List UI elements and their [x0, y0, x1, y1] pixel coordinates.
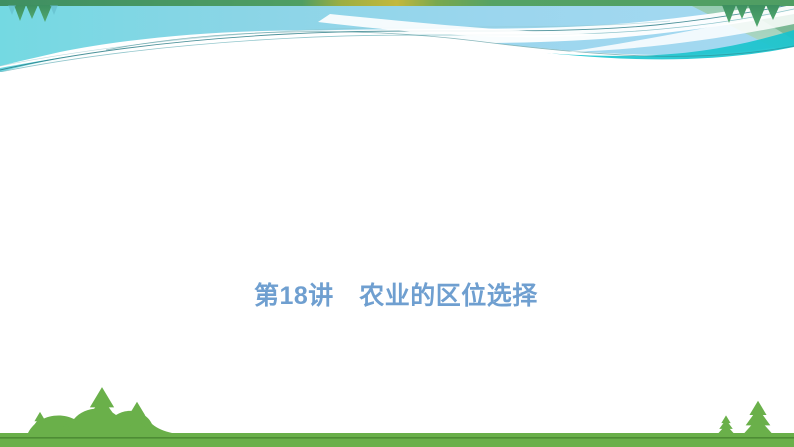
- footer-green-band-lower: [0, 442, 794, 447]
- slide-content-area: 第18讲 农业的区位选择: [0, 72, 794, 377]
- footer-band: [0, 377, 794, 447]
- footer-tree-graphic: [0, 377, 794, 447]
- presentation-slide: 第18讲 农业的区位选择: [0, 0, 794, 447]
- header-wave-graphic: [0, 0, 794, 72]
- header-banner: [0, 0, 794, 72]
- top-color-bar: [0, 0, 794, 6]
- title-block: 第18讲 农业的区位选择: [0, 277, 794, 315]
- page-title: 第18讲 农业的区位选择: [0, 277, 794, 315]
- footer-green-band-line: [0, 437, 794, 439]
